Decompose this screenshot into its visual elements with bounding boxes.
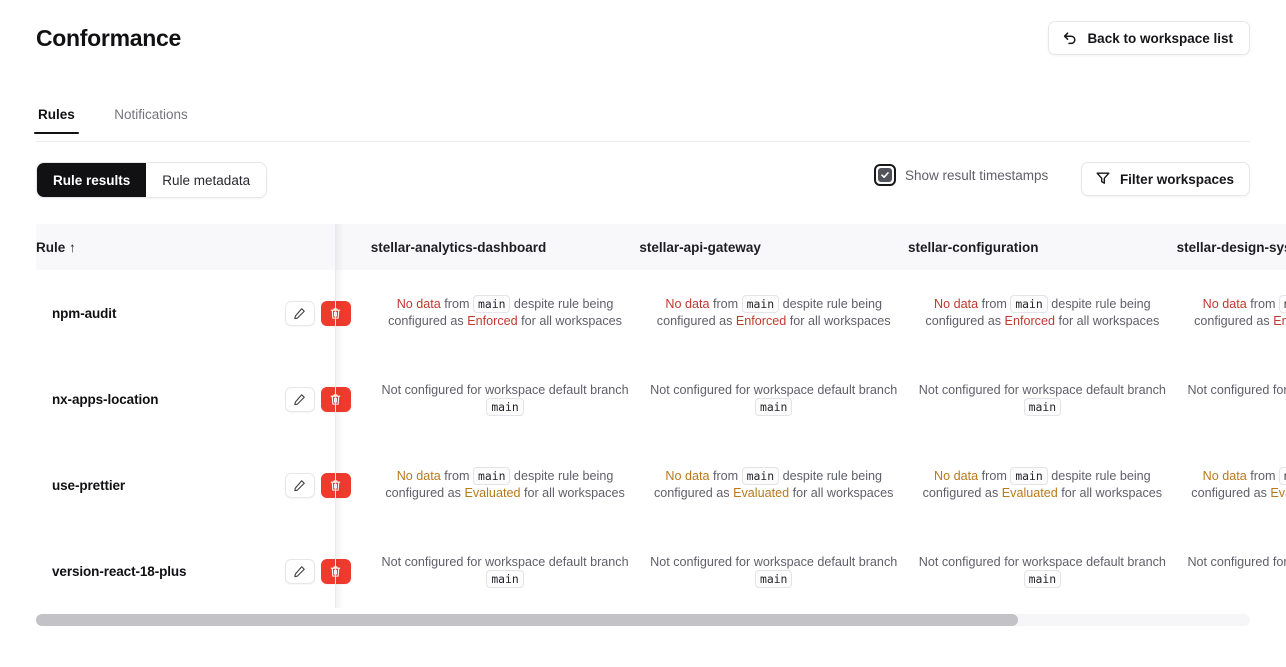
no-data-label: No data <box>665 469 709 483</box>
rule-level-label: Evaluated <box>1002 486 1058 500</box>
check-icon <box>880 170 890 180</box>
no-data-label: No data <box>1203 297 1247 311</box>
no-data-label: No data <box>397 469 441 483</box>
branch-code-chip: main <box>486 398 523 416</box>
column-header-workspace-1[interactable]: stellar-analytics-dashboard <box>371 224 640 270</box>
rule-cell-inner: version-react-18-plus <box>36 528 371 608</box>
branch-code-chip: main <box>742 295 779 313</box>
rule-result-cell: No data from main despite rule being con… <box>908 442 1177 528</box>
filter-button-label: Filter workspaces <box>1120 172 1234 187</box>
column-header-workspace-2[interactable]: stellar-api-gateway <box>639 224 908 270</box>
rule-name-label: version-react-18-plus <box>52 564 186 579</box>
back-button-label: Back to workspace list <box>1087 31 1233 46</box>
horizontal-scrollbar-track[interactable] <box>36 614 1250 626</box>
rule-name-cell: version-react-18-plus <box>36 528 371 608</box>
tab-notifications[interactable]: Notifications <box>112 107 190 133</box>
rule-name-cell: nx-apps-location <box>36 356 371 442</box>
rule-level-label: Evaluated <box>1270 486 1286 500</box>
branch-code-chip: main <box>1010 467 1047 485</box>
no-data-label: No data <box>934 297 978 311</box>
show-timestamps-checkbox[interactable] <box>874 164 896 186</box>
rule-name-cell: npm-audit <box>36 270 371 356</box>
table-row: version-react-18-plusNot configured for … <box>36 528 1286 608</box>
rule-result-cell: No data from main despite rule being con… <box>639 442 908 528</box>
branch-code-chip: main <box>1279 295 1286 313</box>
table-header-row: Rule ↑ stellar-analytics-dashboard stell… <box>36 224 1286 270</box>
branch-code-chip: main <box>755 398 792 416</box>
pencil-icon <box>293 565 306 578</box>
segment-rule-results[interactable]: Rule results <box>37 163 146 197</box>
rule-result-cell: Not configured for workspace default bra… <box>908 528 1177 608</box>
rule-actions <box>285 473 351 498</box>
segment-rule-metadata[interactable]: Rule metadata <box>146 163 266 197</box>
edit-rule-button[interactable] <box>285 473 315 498</box>
rule-actions <box>285 301 351 326</box>
rule-header-label: Rule <box>36 240 65 255</box>
table-row: npm-auditNo data from main despite rule … <box>36 270 1286 356</box>
column-header-rule[interactable]: Rule ↑ <box>36 224 371 270</box>
branch-code-chip: main <box>473 295 510 313</box>
no-data-label: No data <box>1203 469 1247 483</box>
rule-result-cell: Not configured for workspace default bra… <box>1177 528 1286 608</box>
rule-level-label: Evaluated <box>464 486 520 500</box>
rule-cell-inner: nx-apps-location <box>36 356 371 442</box>
pencil-icon <box>293 393 306 406</box>
rule-level-label: Enforced <box>736 314 786 328</box>
results-toolbar: Rule results Rule metadata Show result t… <box>0 162 1286 198</box>
branch-code-chip: main <box>486 570 523 588</box>
rule-level-label: Evaluated <box>733 486 789 500</box>
rule-actions <box>285 559 351 584</box>
conformance-table-scroll-area[interactable]: Rule ↑ stellar-analytics-dashboard stell… <box>36 224 1286 608</box>
back-to-workspace-list-button[interactable]: Back to workspace list <box>1048 21 1250 55</box>
rule-result-cell: No data from main despite rule being con… <box>1177 270 1286 356</box>
table-row: nx-apps-locationNot configured for works… <box>36 356 1286 442</box>
rule-result-cell: No data from main despite rule being con… <box>908 270 1177 356</box>
show-timestamps-control[interactable]: Show result timestamps <box>874 164 1048 186</box>
rule-result-cell: No data from main despite rule being con… <box>639 270 908 356</box>
no-data-label: No data <box>934 469 978 483</box>
filter-workspaces-button[interactable]: Filter workspaces <box>1081 162 1250 196</box>
funnel-icon <box>1095 170 1111 189</box>
rule-result-cell: Not configured for workspace default bra… <box>1177 356 1286 442</box>
show-timestamps-label: Show result timestamps <box>905 168 1048 183</box>
rule-name-cell: use-prettier <box>36 442 371 528</box>
column-header-workspace-4[interactable]: stellar-design-system <box>1177 224 1286 270</box>
rule-actions <box>285 387 351 412</box>
branch-code-chip: main <box>755 570 792 588</box>
edit-rule-button[interactable] <box>285 559 315 584</box>
branch-code-chip: main <box>1010 295 1047 313</box>
horizontal-scrollbar-thumb[interactable] <box>36 614 1018 626</box>
rule-cell-inner: use-prettier <box>36 442 371 528</box>
pencil-icon <box>293 307 306 320</box>
rule-level-label: Enforced <box>1005 314 1055 328</box>
tab-rules[interactable]: Rules <box>36 107 77 133</box>
no-data-label: No data <box>397 297 441 311</box>
rule-result-cell: Not configured for workspace default bra… <box>908 356 1177 442</box>
undo-arrow-icon <box>1062 30 1078 46</box>
edit-rule-button[interactable] <box>285 387 315 412</box>
rule-result-cell: No data from main despite rule being con… <box>371 270 640 356</box>
no-data-label: No data <box>665 297 709 311</box>
tab-bar: Rules Notifications <box>36 106 1250 142</box>
branch-code-chip: main <box>1279 467 1286 485</box>
checkbox-fill <box>878 168 892 182</box>
branch-code-chip: main <box>1024 570 1061 588</box>
view-mode-segmented-control: Rule results Rule metadata <box>36 162 267 198</box>
branch-code-chip: main <box>742 467 779 485</box>
conformance-table: Rule ↑ stellar-analytics-dashboard stell… <box>36 224 1286 608</box>
branch-code-chip: main <box>1024 398 1061 416</box>
pencil-icon <box>293 479 306 492</box>
sort-ascending-icon: ↑ <box>69 240 76 255</box>
rule-level-label: Enforced <box>1273 314 1286 328</box>
rule-level-label: Enforced <box>467 314 517 328</box>
branch-code-chip: main <box>473 467 510 485</box>
rule-name-label: npm-audit <box>52 306 116 321</box>
rule-result-cell: Not configured for workspace default bra… <box>639 356 908 442</box>
page-title: Conformance <box>36 25 181 52</box>
rule-result-cell: No data from main despite rule being con… <box>1177 442 1286 528</box>
rule-name-label: use-prettier <box>52 478 125 493</box>
rule-cell-inner: npm-audit <box>36 270 371 356</box>
rule-result-cell: No data from main despite rule being con… <box>371 442 640 528</box>
frozen-column-divider <box>335 224 336 608</box>
table-row: use-prettierNo data from main despite ru… <box>36 442 1286 528</box>
rule-name-label: nx-apps-location <box>52 392 158 407</box>
rule-result-cell: Not configured for workspace default bra… <box>371 356 640 442</box>
rule-result-cell: Not configured for workspace default bra… <box>371 528 640 608</box>
edit-rule-button[interactable] <box>285 301 315 326</box>
conformance-table-body: npm-auditNo data from main despite rule … <box>36 270 1286 608</box>
conformance-page: Conformance Back to workspace list Rules… <box>0 0 1286 667</box>
column-header-workspace-3[interactable]: stellar-configuration <box>908 224 1177 270</box>
page-header: Conformance Back to workspace list <box>0 0 1286 78</box>
rule-result-cell: Not configured for workspace default bra… <box>639 528 908 608</box>
